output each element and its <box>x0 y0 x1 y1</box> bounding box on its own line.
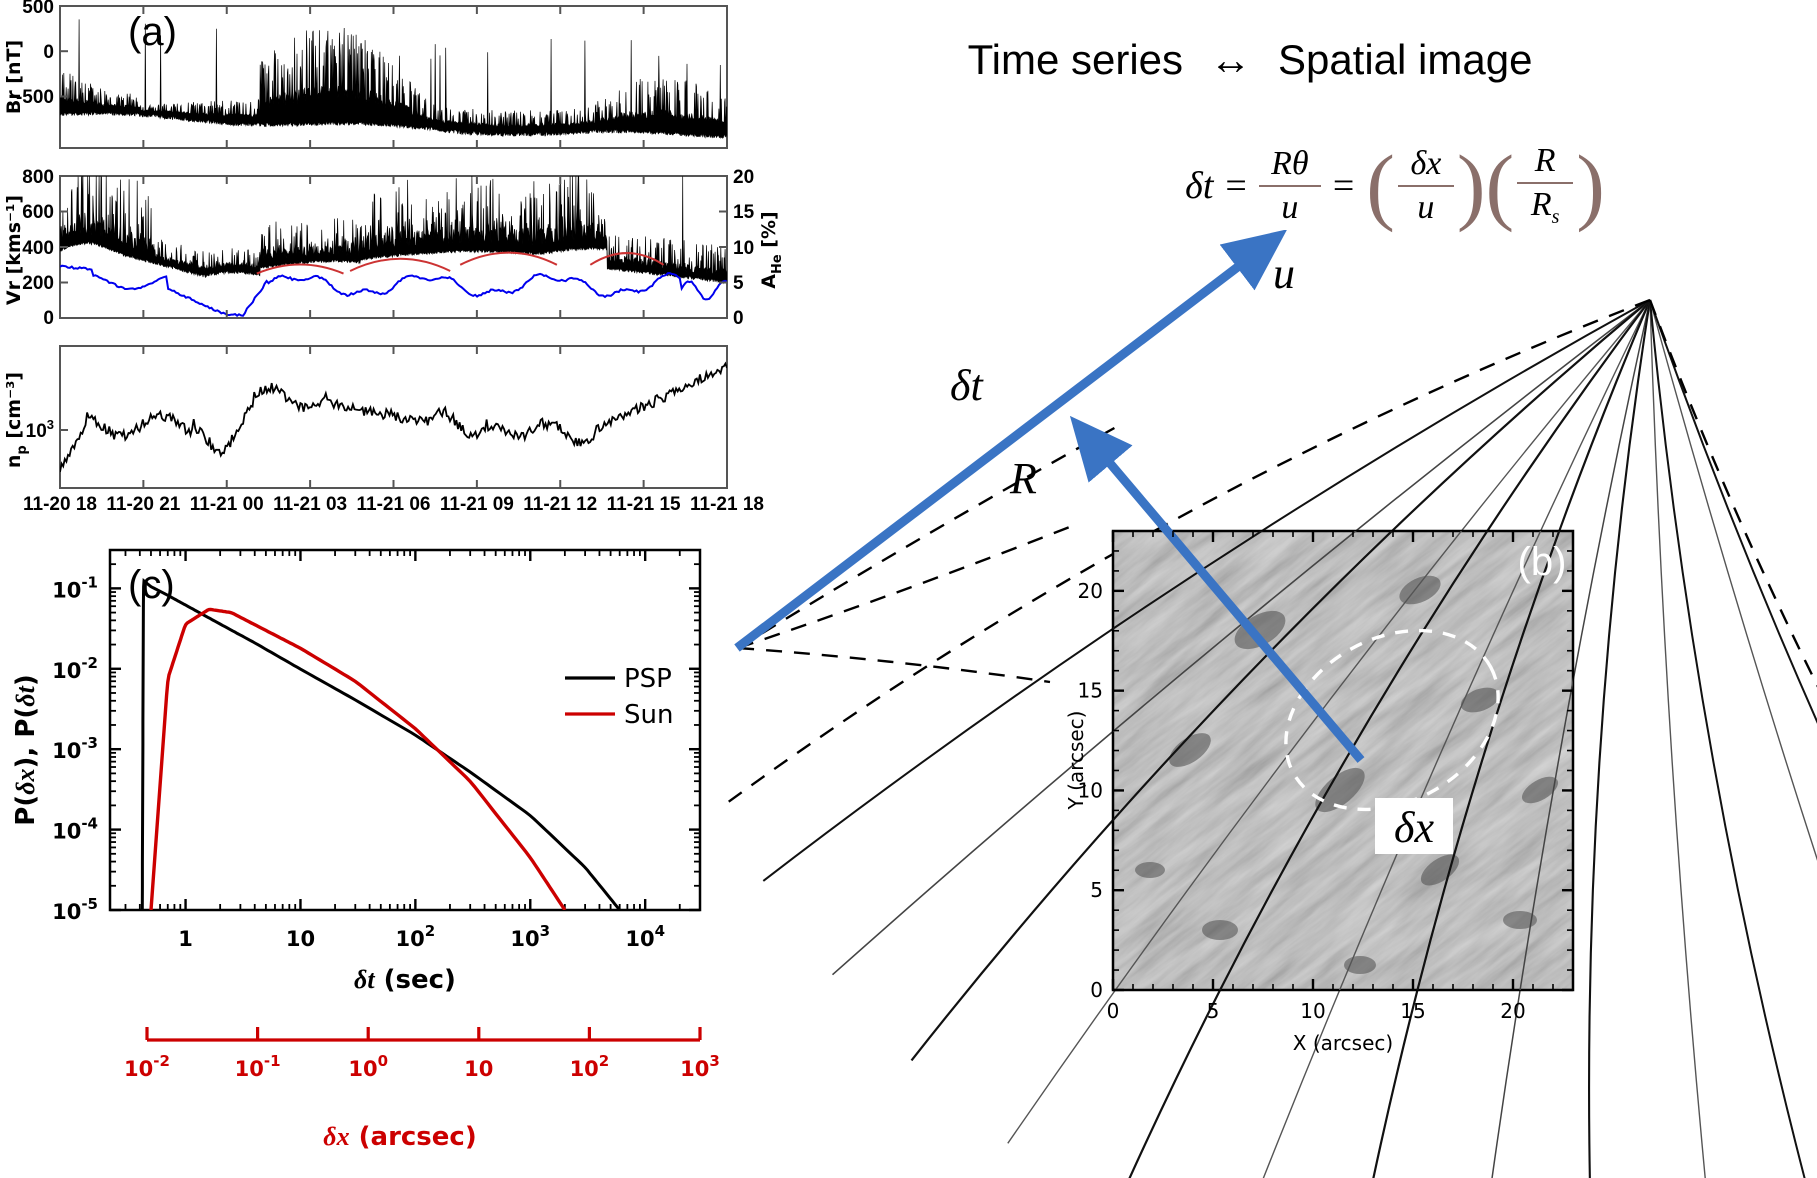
panel-b-ytick-1: 5 <box>1090 878 1103 902</box>
panel-a-timeseries: 500 0 -500 Br [nT] (a) 800 600 400 200 0 <box>0 0 790 520</box>
vr-yaxis-left: 800 600 400 200 0 <box>22 167 68 329</box>
ahe-ytick-1: 15 <box>733 202 755 223</box>
panel-a-xtick-6: 11-21 12 <box>523 494 597 515</box>
panel-b-label: (b) <box>1518 540 1567 584</box>
header-left-text: Time series <box>968 36 1183 83</box>
panel-c-pdf: (c) 10-110-210-310-410-5 P(δx), P(δt) 11… <box>0 520 790 1178</box>
eq-equals-1: = <box>1213 164 1258 208</box>
panel-b-xtick-2: 10 <box>1300 999 1325 1023</box>
panel-a-xtick-7: 11-21 15 <box>607 494 681 515</box>
panel-b-ylabel: Y (arcsec) <box>1064 711 1088 811</box>
label-R: R <box>1009 454 1037 503</box>
panel-b-xtick-4: 20 <box>1500 999 1525 1023</box>
equation-block: δt = Rθ u = ( δx u ) ( R Rs ) <box>1075 128 1715 243</box>
eq-frac3-den-sub: s <box>1552 206 1560 228</box>
pc-xlabel-math: δt <box>354 965 375 994</box>
eq-frac3-bar <box>1517 182 1573 184</box>
panel-c-ylabel: P(δx), P(δt) <box>11 674 41 825</box>
pc-ylabel-p3: ) <box>11 674 41 686</box>
np-axis-label: np [cm⁻³] <box>3 372 30 468</box>
vr-ytick-1: 600 <box>22 202 54 223</box>
svg-text:P(δx), P(δt): P(δx), P(δt) <box>11 674 41 825</box>
panel-c-ytick-3: 10-4 <box>52 815 98 844</box>
eq-frac1-denominator: u <box>1281 190 1298 226</box>
panel-c-red-xtick-5: 103 <box>680 1052 720 1081</box>
panel-c-xtick-2: 102 <box>396 922 436 951</box>
header-time-series-spatial-image: Time series ↔ Spatial image <box>900 36 1600 84</box>
panel-c-ytick-0: 10-1 <box>52 573 98 602</box>
dashed-cross-c <box>738 648 1050 682</box>
vr-ytick-0: 800 <box>22 167 54 188</box>
panel-c-ytick-1: 10-2 <box>52 654 98 683</box>
panel-a-xtick-0: 11-20 18 <box>23 494 97 515</box>
panel-a-xtick-4: 11-21 06 <box>357 494 431 515</box>
label-delta-x: δx <box>1394 803 1434 852</box>
eq-equals-2: = <box>1321 164 1366 208</box>
pc-ylabel-dx: δx <box>11 768 40 794</box>
eq-paren-close-2: ) <box>1576 151 1605 220</box>
panel-c-xlabel-top: δt (sec) <box>354 965 456 995</box>
pc-ylabel-dt: δt <box>11 685 40 706</box>
panel-a-svg: 500 0 -500 Br [nT] (a) 800 600 400 200 0 <box>0 0 790 520</box>
panel-c-red-xtick-1: 10-1 <box>235 1052 281 1081</box>
pc-xlabel-b-math: δx <box>323 1122 349 1151</box>
label-delta-x-box: δx <box>1375 798 1453 854</box>
np-axis-label-main: n <box>3 455 25 469</box>
vr-data <box>60 176 727 316</box>
panel-c-label: (c) <box>128 563 175 607</box>
fieldline <box>1650 300 1817 1178</box>
panel-c-xtick-4: 104 <box>625 922 665 951</box>
ahe-ytick-0: 20 <box>733 167 754 188</box>
eq-paren-open-2: ( <box>1486 151 1515 220</box>
panel-c-curves <box>142 581 619 910</box>
panel-b-xlabel: X (arcsec) <box>1293 1031 1393 1055</box>
panel-c-red-xtick-2: 100 <box>348 1052 388 1081</box>
fieldline <box>1650 300 1817 1178</box>
np-axis-label-unit: [cm⁻³] <box>3 372 25 445</box>
panel-c-legend: PSP Sun <box>565 664 673 730</box>
double-arrow-icon: ↔ <box>1188 36 1274 83</box>
fieldline <box>1650 300 1817 1178</box>
fieldline <box>1589 300 1650 1178</box>
panel-c-xtick-3: 103 <box>510 922 550 951</box>
br-ytick-1: 0 <box>43 42 54 63</box>
pc-ylabel-p1: P( <box>11 795 41 826</box>
panel-c-ytick-4: 10-5 <box>52 895 98 924</box>
br-ytick-0: 500 <box>22 0 54 18</box>
fieldline <box>1650 300 1817 1178</box>
panel-b-ytick-3: 15 <box>1078 679 1103 703</box>
eq-frac2-numerator: δx <box>1410 146 1441 182</box>
np-plot-frame <box>60 346 727 488</box>
panel-b-xtick-1: 5 <box>1207 999 1220 1023</box>
fieldline <box>1650 300 1817 1178</box>
pc-xlabel-unit: (sec) <box>375 965 456 995</box>
eq-frac2-denominator: u <box>1417 190 1434 226</box>
eq-lhs: δt <box>1185 164 1213 208</box>
panel-c-xlabel-bottom: δx (arcsec) <box>323 1122 476 1152</box>
br-axis-label: Br [nT] <box>3 40 25 114</box>
eq-paren-open-1: ( <box>1366 151 1395 220</box>
panel-c-xtick-labels: 110102103104 <box>178 922 665 951</box>
np-yaxis: 103 <box>26 417 68 442</box>
dashed-cross-b <box>738 526 1072 648</box>
panel-b-xtick-0: 0 <box>1107 999 1120 1023</box>
legend-label-sun: Sun <box>624 700 673 730</box>
panel-c-red-xtick-4: 102 <box>570 1052 610 1081</box>
panel-a-xaxis: 11-20 1811-20 2111-21 0011-21 0311-21 06… <box>23 6 764 515</box>
panel-a-xtick-5: 11-21 09 <box>440 494 514 515</box>
dashed-boundary-1 <box>1650 300 1817 1178</box>
panel-a-xtick-1: 11-20 21 <box>106 494 180 515</box>
panel-c-xtick-0: 1 <box>178 927 193 951</box>
panel-a-label: (a) <box>128 10 177 54</box>
eq-frac3-numerator: R <box>1535 143 1556 179</box>
label-delta-t: δt <box>950 361 984 410</box>
panel-c-red-axis: 10-210-110010102103 <box>124 1027 720 1081</box>
panel-c-ytick-labels: 10-110-210-310-410-5 <box>52 573 98 924</box>
vr-ytick-2: 400 <box>22 238 54 259</box>
np-data <box>60 364 727 472</box>
panel-c-ytick-2: 10-3 <box>52 734 98 763</box>
eq-frac1-numerator: Rθ <box>1271 146 1308 182</box>
panel-c-svg: (c) 10-110-210-310-410-5 P(δx), P(δt) 11… <box>0 520 790 1178</box>
eq-paren-close-1: ) <box>1457 151 1486 220</box>
vr-axis-label: Vr [kms⁻¹] <box>3 195 25 305</box>
panel-b-xtick-3: 15 <box>1400 999 1425 1023</box>
panel-b-svg: u δt R δx (b) 0510152005101520 X (arcsec… <box>720 230 1817 1178</box>
panel-b-ytick-0: 0 <box>1090 978 1103 1002</box>
panel-b-ytick-4: 20 <box>1078 579 1103 603</box>
label-u: u <box>1273 249 1295 298</box>
panel-c-red-xtick-3: 10 <box>464 1057 493 1081</box>
np-axis-label-sub: p <box>15 445 30 454</box>
eq-frac3-denominator: Rs <box>1531 187 1560 228</box>
vr-ytick-3: 200 <box>22 273 54 294</box>
panel-b-diagram: u δt R δx (b) 0510152005101520 X (arcsec… <box>720 230 1817 1178</box>
eq-frac1-bar <box>1259 185 1321 187</box>
vr-ytick-4: 0 <box>43 308 54 329</box>
header-right-text: Spatial image <box>1278 36 1532 83</box>
panel-a-xtick-3: 11-21 03 <box>273 494 347 515</box>
fieldline <box>1589 300 1650 1178</box>
panel-b-label-box: (b) <box>1518 540 1567 584</box>
eq-frac2-bar <box>1398 185 1454 187</box>
dashed-cross-a <box>738 426 1118 648</box>
fieldline <box>1650 300 1817 1178</box>
pc-ylabel-p2: ), P( <box>11 707 41 769</box>
panel-a-xtick-2: 11-21 00 <box>190 494 264 515</box>
svg-text:np [cm⁻³]: np [cm⁻³] <box>3 372 30 468</box>
panel-c-xtick-1: 10 <box>286 927 315 951</box>
pc-xlabel-b-unit: (arcsec) <box>350 1122 477 1152</box>
panel-c-red-xtick-0: 10-2 <box>124 1052 170 1081</box>
legend-label-psp: PSP <box>624 664 672 694</box>
np-ytick-0: 103 <box>26 417 54 442</box>
